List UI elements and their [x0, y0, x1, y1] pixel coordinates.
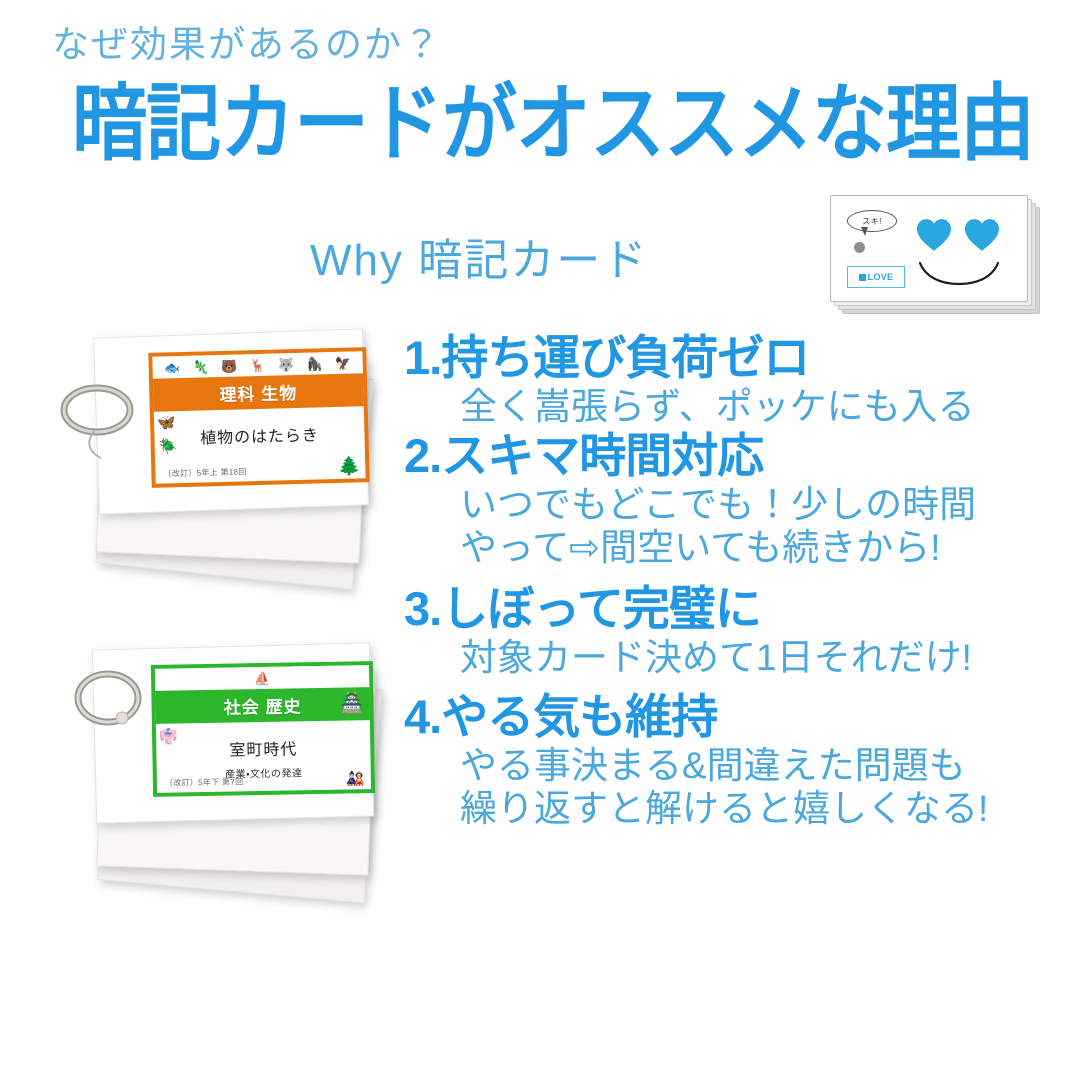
heart-card-stack: スキ! LOVE	[830, 195, 1045, 320]
reason-line: やる事決まる&間違えた問題も	[460, 744, 1044, 787]
reason-item-4: 4.やる気も維持 やる事決まる&間違えた問題も 繰り返すと解けると嬉しくなる!	[404, 691, 1044, 830]
trees-icon: 🌲	[338, 455, 361, 477]
speech-bubble-icon: スキ!	[847, 210, 897, 232]
bear-icon: 🐻	[221, 359, 238, 372]
flashcard-subject-bar: 理科 生物	[153, 373, 364, 411]
flashcard-title: 室町時代	[162, 734, 364, 762]
reason-heading: 2.スキマ時間対応	[404, 430, 1044, 483]
why-label: Why 暗記カード	[310, 224, 648, 288]
flashcard-body: 👘 🎎 室町時代 産業・文化の発達 （改訂）5年下 第7回	[156, 720, 371, 793]
flashcard-subject-bar: 社会 歴史 🏯	[155, 687, 370, 724]
wolf-icon: 🐺	[278, 358, 295, 371]
love-badge: LOVE	[847, 266, 905, 288]
flashcard-meta: （改訂）5年下 第7回	[165, 776, 244, 788]
beetle-icon: 🪲	[158, 437, 177, 455]
reason-heading: 1.持ち運び負荷ゼロ	[404, 332, 1044, 385]
flashcard-body: 🦋 🪲 🌲 植物のはたらき （改訂）5年上 第18回	[154, 406, 366, 483]
dot-icon	[854, 242, 865, 253]
reason-list: 1.持ち運び負荷ゼロ 全く嵩張らず、ポッケにも入る 2.スキマ時間対応 いつでも…	[404, 332, 1044, 836]
reason-line: 繰り返すと解けると嬉しくなる!	[460, 787, 1044, 830]
love-badge-label: LOVE	[868, 272, 894, 282]
reason-heading: 4.やる気も維持	[404, 691, 1044, 744]
poster-canvas: なぜ効果があるのか？ 暗記カードがオススメな理由 Why 暗記カード スキ! L…	[0, 0, 1078, 1080]
heart-icon	[963, 218, 1001, 252]
badge-square-icon	[859, 274, 866, 281]
reason-line: 対象カード決めて1日それだけ!	[460, 636, 1044, 679]
reason-item-3: 3.しぼって完璧に 対象カード決めて1日それだけ!	[404, 583, 1044, 679]
deer-icon: 🦌	[249, 358, 266, 371]
ship-icon: ⛵	[254, 671, 270, 684]
flashcard-stack-science: 🐟 🦎 🐻 🦌 🐺 🦍 🦅 理科 生物 🦋 🪲 🌲 植物のはたらき （改訂）5年…	[60, 325, 410, 610]
kimono-icon: 👘	[159, 727, 178, 745]
reason-line: いつでもどこでも！少しの時間	[460, 483, 1044, 526]
butterfly-icon: 🦋	[157, 413, 176, 431]
page-title: 暗記カードがオススメな理由	[72, 55, 1034, 177]
reason-line: やって⇨間空いても続きから!	[460, 526, 1044, 569]
gorilla-icon: 🦍	[306, 357, 323, 370]
flashcard-face-social: ⛵ 社会 歴史 🏯 👘 🎎 室町時代 産業・文化の発達 （改訂）5年下 第7回	[151, 661, 375, 797]
heart-icon	[915, 218, 953, 252]
flashcard-title: 植物のはたらき	[160, 420, 359, 449]
reason-item-1: 1.持ち運び負荷ゼロ 全く嵩張らず、ポッケにも入る	[404, 332, 1044, 428]
flashcard-face-science: 🐟 🦎 🐻 🦌 🐺 🦍 🦅 理科 生物 🦋 🪲 🌲 植物のはたらき （改訂）5年…	[148, 347, 369, 488]
card-sheet-front: スキ! LOVE	[830, 195, 1028, 302]
reason-heading: 3.しぼって完璧に	[404, 583, 1044, 636]
reason-line: 全く嵩張らず、ポッケにも入る	[460, 385, 1044, 428]
heart-card-face: スキ! LOVE	[837, 202, 1021, 295]
fish-icon: 🐟	[164, 361, 181, 374]
bird-icon: 🦅	[335, 356, 352, 369]
castle-icon: 🏯	[340, 691, 364, 715]
samurai-doll-icon: 🎎	[346, 769, 365, 787]
flashcard-subject-label: 理科 生物	[219, 379, 297, 406]
flashcard-subject-label: 社会 歴史	[224, 692, 302, 718]
lizard-icon: 🦎	[192, 360, 209, 373]
flashcard-stack-social: ⛵ 社会 歴史 🏯 👘 🎎 室町時代 産業・文化の発達 （改訂）5年下 第7回	[60, 638, 410, 923]
smile-icon	[917, 260, 1001, 286]
reason-item-2: 2.スキマ時間対応 いつでもどこでも！少しの時間 やって⇨間空いても続きから!	[404, 430, 1044, 569]
flashcard-meta: （改訂）5年上 第18回	[163, 466, 246, 479]
